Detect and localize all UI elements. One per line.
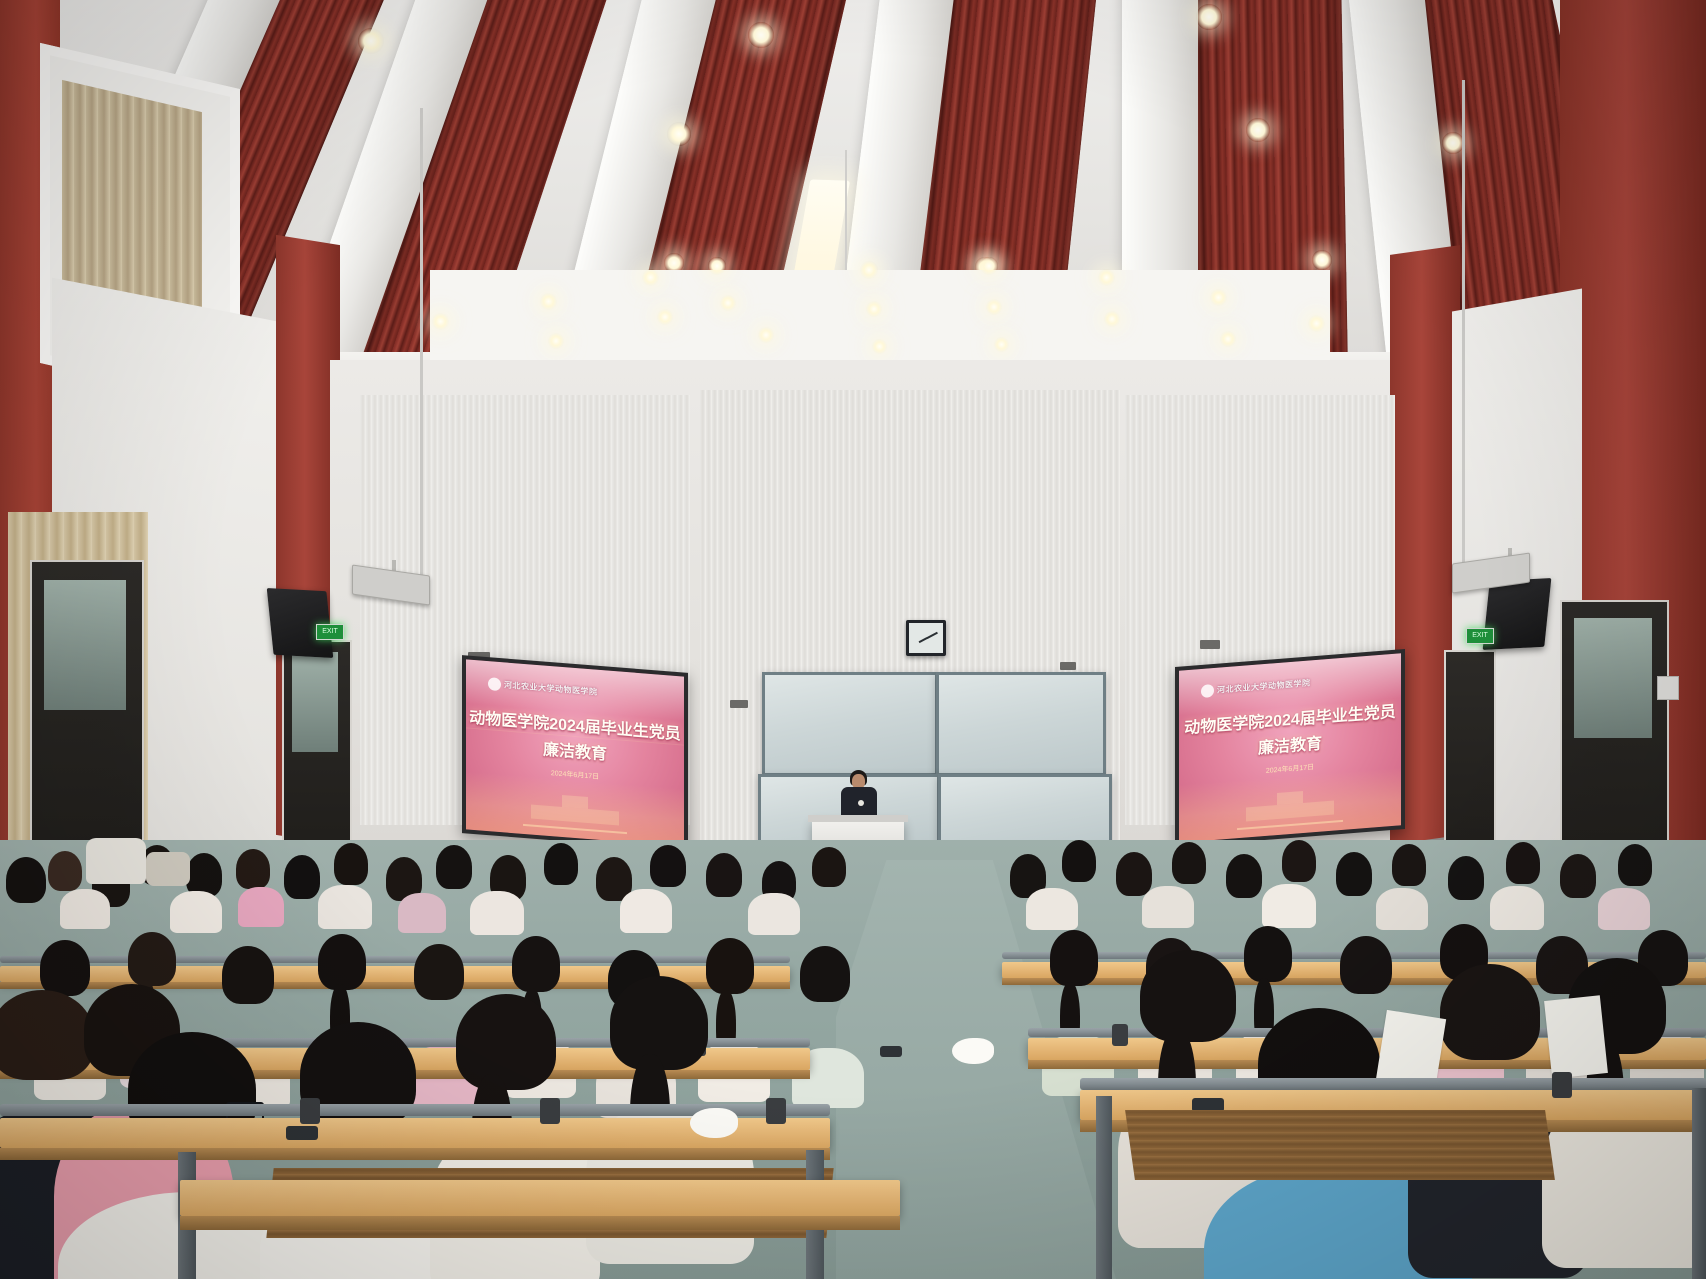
lectern-top [808, 815, 908, 822]
wall-speaker-left [267, 588, 334, 658]
projection-screen-right: 河北农业大学动物医学院 动物医学院2024届毕业生党员 廉洁教育 2024年6月… [1175, 649, 1405, 847]
bag-on-ledge [146, 852, 190, 886]
desk-edge [0, 1148, 830, 1160]
desk-leg [1096, 1096, 1112, 1279]
wall-sensor-center [1060, 662, 1076, 670]
suspension-pole [420, 108, 423, 578]
right-door-window [1574, 618, 1652, 738]
right-side-door[interactable] [1444, 650, 1496, 854]
paper-in-hand [1544, 995, 1608, 1078]
clock-face [909, 623, 943, 653]
whiteboard-right [936, 672, 1106, 776]
desk-rail [1080, 1078, 1706, 1090]
wall-outlet-right [1657, 676, 1679, 700]
university-logo-icon [488, 677, 501, 691]
backpack-on-ledge [86, 838, 146, 884]
seat-back-knob [540, 1098, 560, 1124]
whiteboard-right-surface [939, 675, 1103, 773]
desk-leg [1692, 1088, 1706, 1279]
suspension-pole [1462, 80, 1465, 580]
exit-sign-right: EXIT [1466, 628, 1494, 644]
exit-sign-left-label: EXIT [317, 625, 343, 639]
university-logo-icon [1201, 684, 1214, 698]
clock-minute-hand [926, 632, 937, 639]
wall-sensor-podium [730, 700, 748, 708]
tissue-on-desk [952, 1038, 994, 1064]
lecture-hall-photo: EXIT EXIT 河北农业大学动物医学院 动物医学院2024届毕业生党员 廉洁… [0, 0, 1706, 1279]
suspension-pole [845, 150, 847, 270]
desk-row-1-nearest [180, 1180, 900, 1279]
exit-sign-right-label: EXIT [1467, 629, 1493, 643]
whiteboard-left-surface [765, 675, 935, 773]
seat-back-knob [766, 1098, 786, 1124]
wall-clock [906, 620, 946, 656]
left-side-door-window [292, 652, 338, 752]
tissue-on-desk [690, 1108, 738, 1138]
phone-on-desk [286, 1126, 318, 1140]
desk-edge [180, 1216, 900, 1230]
slide-left: 河北农业大学动物医学院 动物医学院2024届毕业生党员 廉洁教育 2024年6月… [466, 659, 684, 846]
seat-back-knob [300, 1098, 320, 1124]
projection-screen-left: 河北农业大学动物医学院 动物医学院2024届毕业生党员 廉洁教育 2024年6月… [462, 655, 688, 851]
seat-back-knob [1552, 1072, 1572, 1098]
wall-mount-bracket-right [1200, 640, 1220, 649]
desk-understorage-shelf [1125, 1110, 1555, 1180]
presenter-badge-icon [858, 800, 864, 806]
whiteboard-left [762, 672, 938, 776]
exit-sign-left: EXIT [316, 624, 344, 640]
slide-right: 河北农业大学动物医学院 动物医学院2024届毕业生党员 廉洁教育 2024年6月… [1179, 653, 1401, 842]
seat-back-knob [1112, 1024, 1128, 1046]
phone-on-desk [880, 1046, 902, 1057]
desk-surface [180, 1180, 900, 1216]
left-door-window [44, 580, 126, 710]
recessed-downlight-grid [420, 255, 1340, 375]
